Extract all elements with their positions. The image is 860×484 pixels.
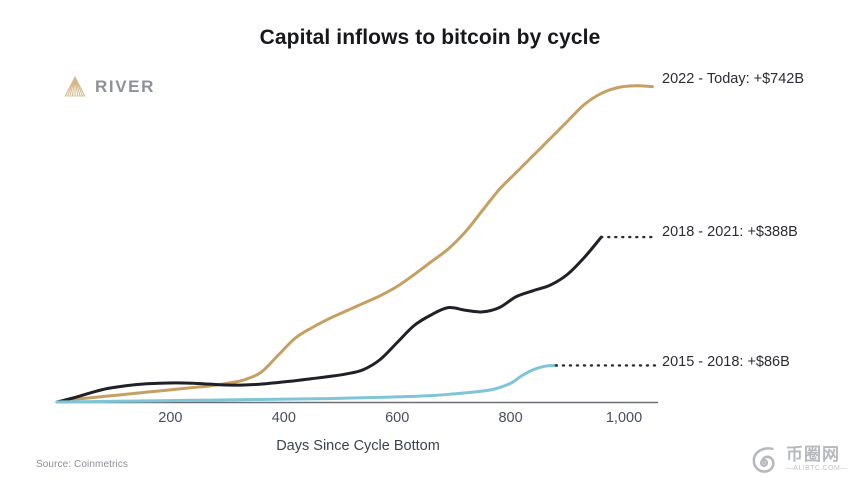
source-note: Source: Coinmetrics bbox=[36, 459, 128, 470]
watermark-url-text: —ALIBTC.COM— bbox=[786, 464, 848, 473]
series-layer bbox=[57, 86, 655, 402]
x-tick-label-800: 800 bbox=[498, 410, 522, 426]
x-tick-label-1000: 1,000 bbox=[606, 410, 642, 426]
x-axis-title: Days Since Cycle Bottom bbox=[0, 438, 716, 454]
chart-container: Capital inflows to bitcoin by cycle RIVE… bbox=[0, 0, 860, 484]
site-watermark: 币圈网 —ALIBTC.COM— bbox=[748, 443, 848, 476]
series-line bbox=[57, 86, 652, 402]
x-tick-label-200: 200 bbox=[158, 410, 182, 426]
series-2022-today bbox=[57, 86, 652, 402]
series-label-2022-today: 2022 - Today: +$742B bbox=[662, 71, 804, 87]
series-2018-2021 bbox=[57, 237, 655, 402]
alibtc-logo-icon bbox=[748, 443, 781, 476]
x-tick-label-400: 400 bbox=[272, 410, 296, 426]
series-label-2018-2021: 2018 - 2021: +$388B bbox=[662, 224, 798, 240]
x-tick-label-600: 600 bbox=[385, 410, 409, 426]
watermark-cn-text: 币圈网 bbox=[786, 446, 840, 464]
series-label-2015-2018: 2015 - 2018: +$86B bbox=[662, 354, 790, 370]
